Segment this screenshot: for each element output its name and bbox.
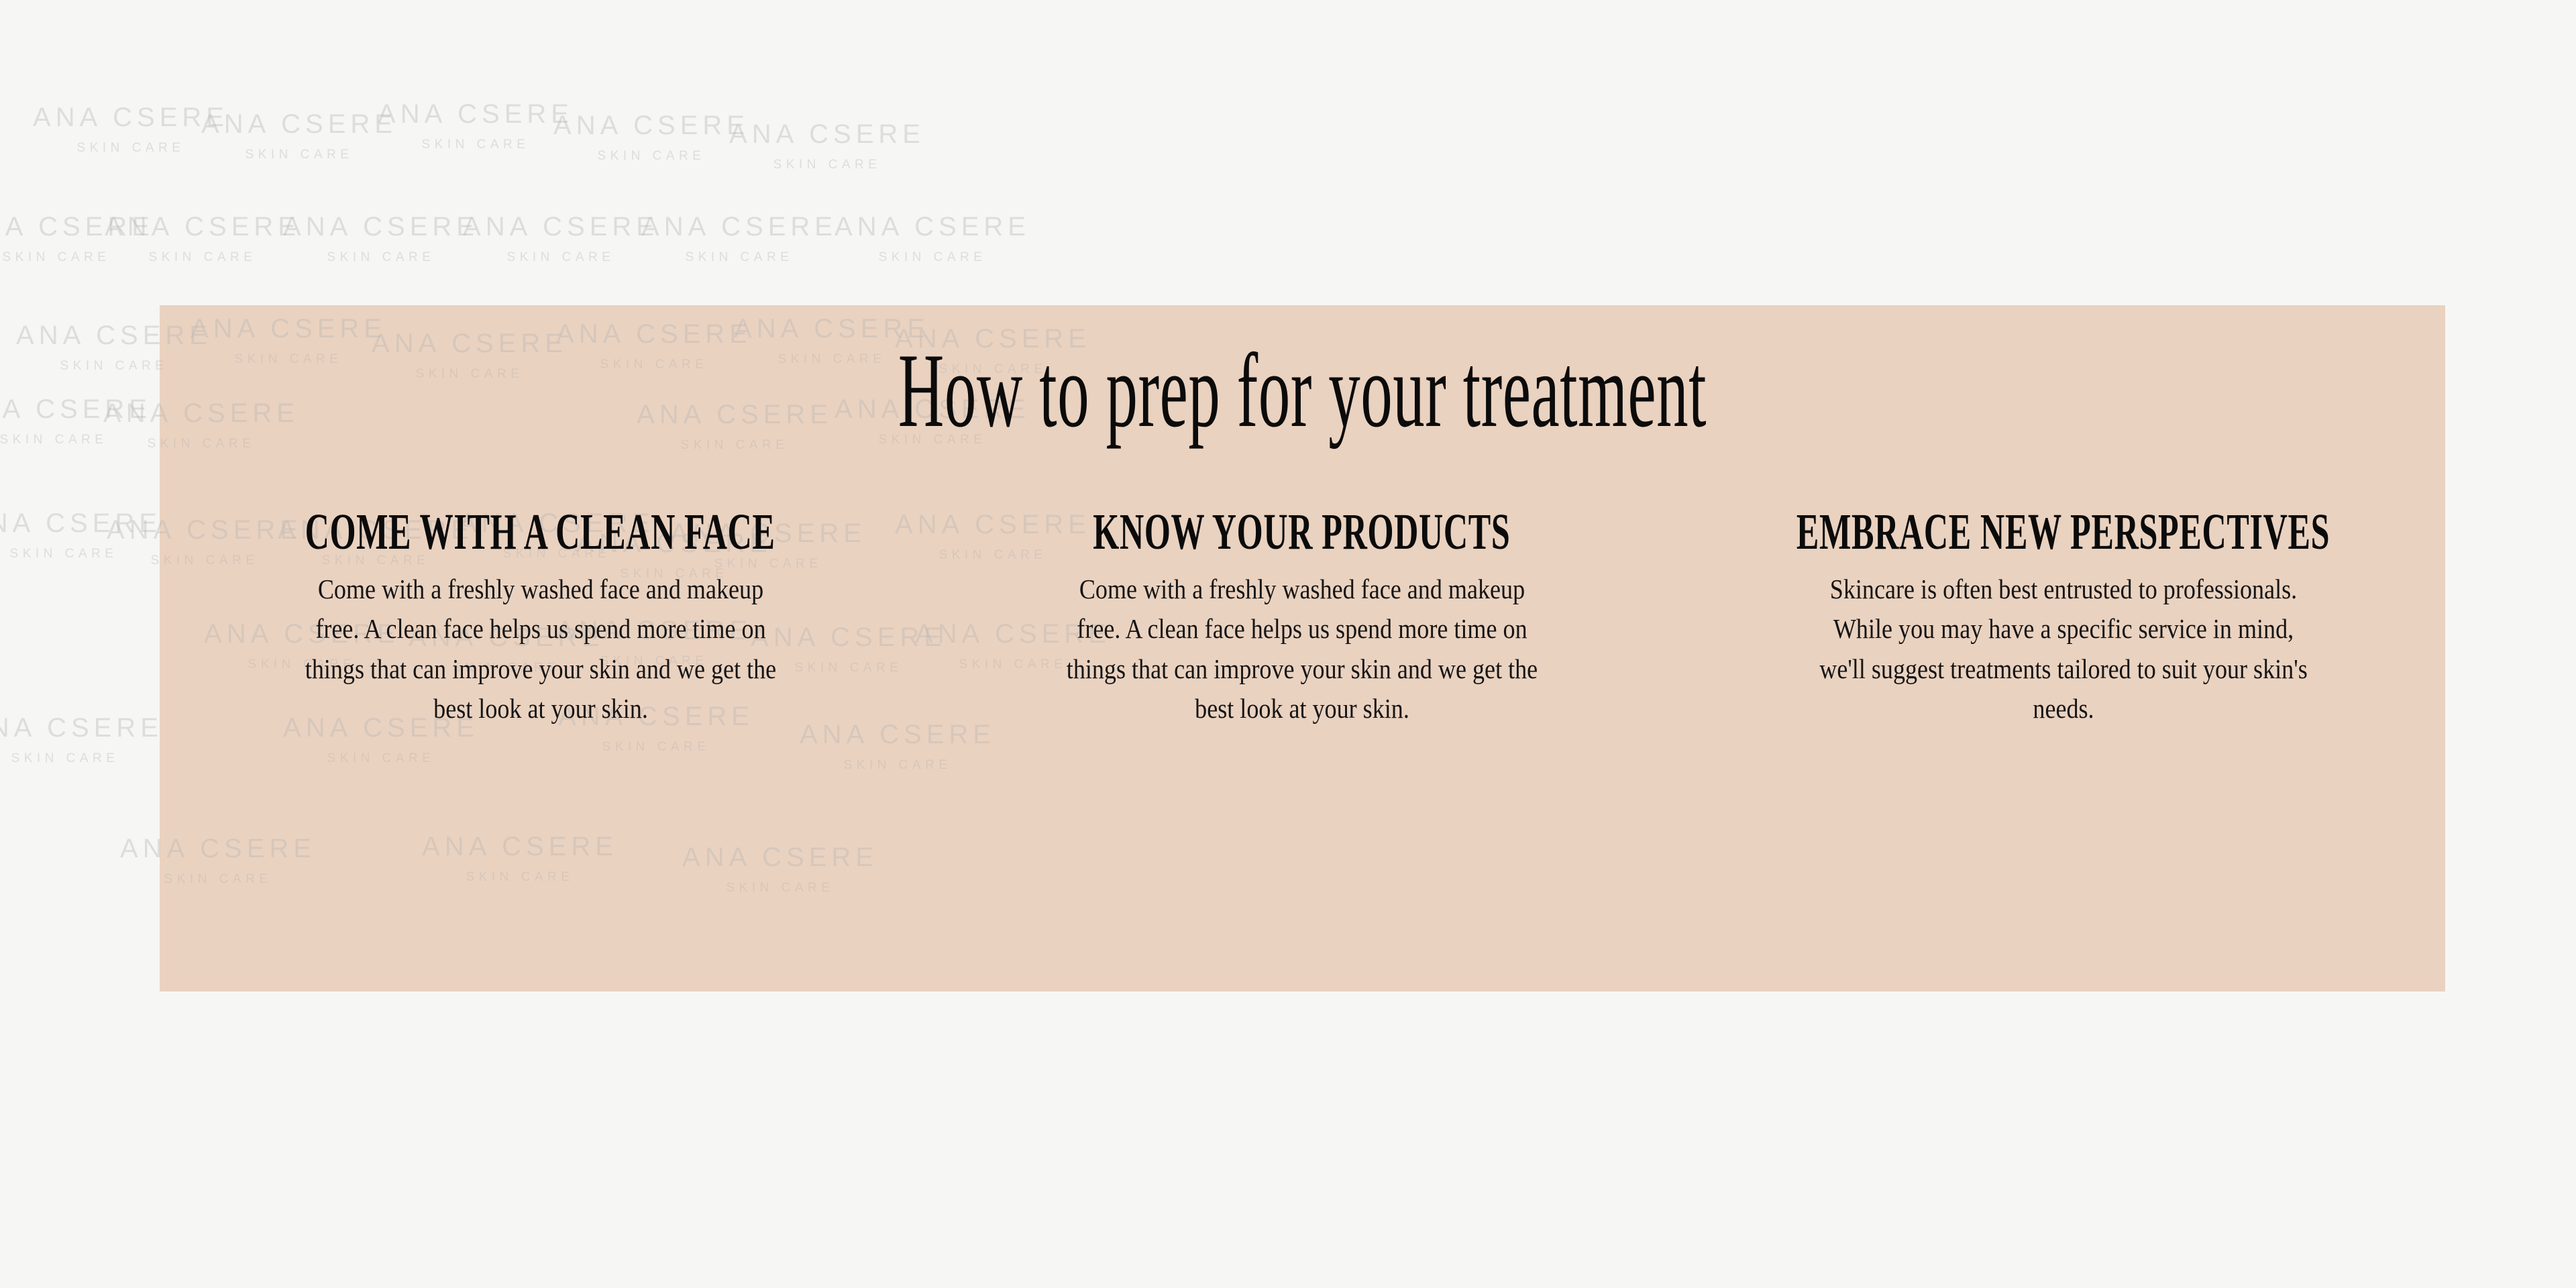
columns-container: COME WITH A CLEAN FACE Come with a fresh… <box>160 506 2445 729</box>
watermark-brand: ANA CSERE <box>0 714 186 741</box>
watermark-brand: ANA CSERE <box>619 213 860 240</box>
column-heading: KNOW YOUR PRODUCTS <box>1093 506 1510 557</box>
watermark-subtitle: SKIN CARE <box>531 150 772 162</box>
watermark-subtitle: SKIN CARE <box>440 251 682 264</box>
brand-watermark: ANA CSERESKIN CARE <box>178 111 420 161</box>
column-body-text: Skincare is often best entrusted to prof… <box>1818 570 2308 729</box>
watermark-subtitle: SKIN CARE <box>178 148 420 161</box>
column-embrace-new-perspectives: EMBRACE NEW PERSPECTIVES Skincare is oft… <box>1682 506 2444 729</box>
brand-watermark: ANA CSERESKIN CARE <box>0 213 177 264</box>
brand-watermark: ANA CSERESKIN CARE <box>706 121 948 171</box>
brand-watermark: ANA CSERESKIN CARE <box>619 213 860 264</box>
brand-watermark: ANA CSERESKIN CARE <box>0 510 184 560</box>
brand-watermark: ANA CSERESKIN CARE <box>531 112 772 162</box>
watermark-brand: ANA CSERE <box>812 213 1053 240</box>
watermark-brand: ANA CSERE <box>531 112 772 139</box>
column-body-text: Come with a freshly washed face and make… <box>1066 570 1538 729</box>
brand-watermark: ANA CSERESKIN CARE <box>812 213 1053 264</box>
brand-watermark: ANA CSERESKIN CARE <box>82 213 323 264</box>
brand-watermark: ANA CSERESKIN CARE <box>355 101 596 151</box>
brand-watermark: ANA CSERESKIN CARE <box>0 714 186 765</box>
watermark-brand: ANA CSERE <box>440 213 682 240</box>
watermark-brand: ANA CSERE <box>10 104 252 131</box>
page-title: How to prep for your treatment <box>616 335 1988 447</box>
watermark-subtitle: SKIN CARE <box>0 251 177 264</box>
brand-watermark: ANA CSERESKIN CARE <box>10 104 252 154</box>
watermark-subtitle: SKIN CARE <box>0 752 186 765</box>
watermark-subtitle: SKIN CARE <box>0 433 174 446</box>
watermark-brand: ANA CSERE <box>178 111 420 138</box>
brand-watermark: ANA CSERESKIN CARE <box>440 213 682 264</box>
column-heading: COME WITH A CLEAN FACE <box>305 506 775 557</box>
watermark-brand: ANA CSERE <box>82 213 323 240</box>
watermark-brand: ANA CSERE <box>0 396 174 423</box>
column-come-with-a-clean-face: COME WITH A CLEAN FACE Come with a fresh… <box>160 506 921 729</box>
watermark-subtitle: SKIN CARE <box>0 547 184 560</box>
watermark-subtitle: SKIN CARE <box>619 251 860 264</box>
watermark-subtitle: SKIN CARE <box>812 251 1053 264</box>
watermark-subtitle: SKIN CARE <box>82 251 323 264</box>
watermark-subtitle: SKIN CARE <box>706 158 948 171</box>
brand-watermark: ANA CSERESKIN CARE <box>260 213 502 264</box>
watermark-subtitle: SKIN CARE <box>260 251 502 264</box>
column-heading: EMBRACE NEW PERSPECTIVES <box>1796 506 2330 557</box>
watermark-brand: ANA CSERE <box>260 213 502 240</box>
brand-watermark: ANA CSERESKIN CARE <box>0 396 174 446</box>
watermark-subtitle: SKIN CARE <box>10 142 252 154</box>
column-body-text: Come with a freshly washed face and make… <box>305 570 777 729</box>
watermark-brand: ANA CSERE <box>706 121 948 148</box>
card-content: How to prep for your treatment COME WITH… <box>160 305 2445 991</box>
watermark-brand: ANA CSERE <box>355 101 596 127</box>
watermark-brand: ANA CSERE <box>0 510 184 537</box>
watermark-subtitle: SKIN CARE <box>355 138 596 151</box>
column-know-your-products: KNOW YOUR PRODUCTS Come with a freshly w… <box>921 506 1682 729</box>
watermark-brand: ANA CSERE <box>0 213 177 240</box>
